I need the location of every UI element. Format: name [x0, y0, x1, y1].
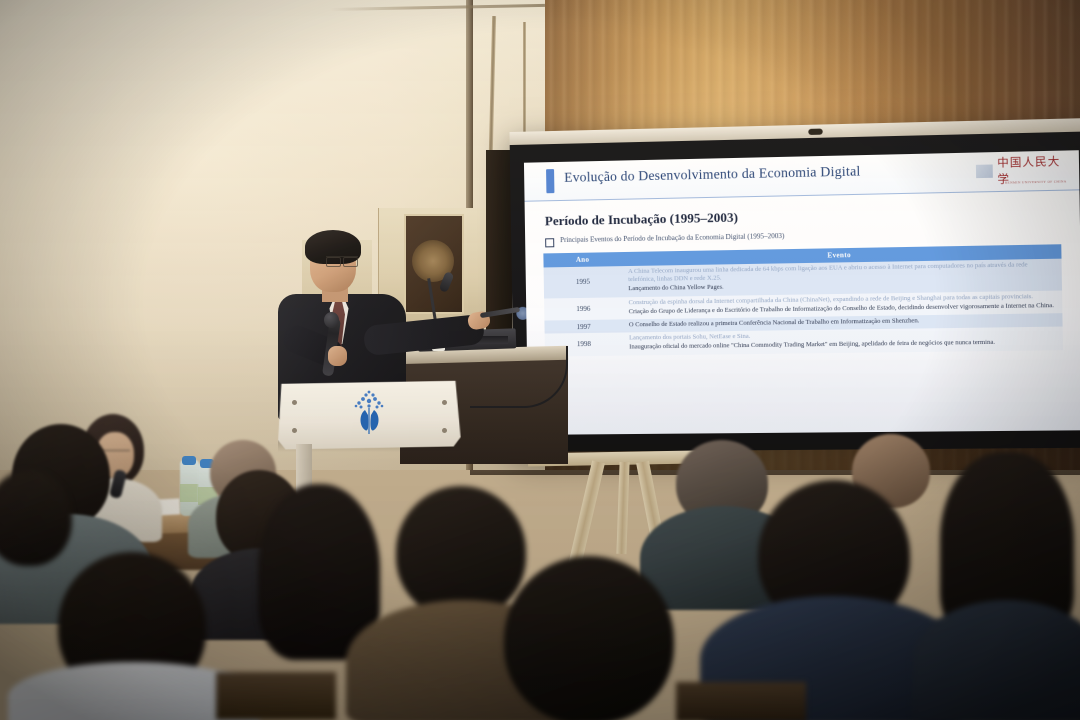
slide-section-title: Período de Incubação (1995–2003): [545, 203, 1061, 229]
cell-year: 1996: [544, 297, 623, 321]
events-table-body: 1995 A China Telecom inaugurou uma linha…: [544, 259, 1063, 356]
cell-year: 1995: [544, 266, 623, 298]
podium-bolt: [292, 428, 297, 433]
microphone-head-icon: [324, 312, 339, 328]
tree-logo-icon: [347, 388, 391, 438]
cell-year: 1997: [544, 319, 623, 333]
presentation-display[interactable]: Evolução do Desenvolvimento da Economia …: [509, 118, 1080, 452]
camera-icon: [809, 129, 824, 135]
chair-back: [676, 682, 806, 720]
display-bezel: Evolução do Desenvolvimento da Economia …: [510, 131, 1080, 427]
podium-bolt: [292, 400, 297, 405]
bottle-label: [180, 484, 199, 502]
presenter-left-hand: [328, 346, 347, 366]
easel-leg-left: [569, 461, 605, 566]
easel-leg-center: [616, 462, 629, 554]
logo-mark-icon: [976, 164, 993, 178]
podium-bolt: [442, 400, 447, 405]
chair-back: [216, 672, 336, 720]
glasses-icon: [326, 256, 358, 265]
audience-head: [396, 486, 526, 618]
slide-bullet-text: Principais Eventos do Período de Incubaç…: [560, 232, 784, 245]
audience-head: [504, 556, 674, 720]
square-bullet-icon: [545, 238, 554, 247]
audience-torso: [912, 600, 1080, 720]
cell-events: Lançamento dos portais Sohu, NetEase e S…: [623, 327, 1063, 355]
header-accent-bar: [546, 169, 554, 193]
podium-bolt: [442, 428, 447, 433]
slide-body: Período de Incubação (1995–2003) Princip…: [525, 190, 1080, 356]
column-header-ano: Ano: [543, 252, 622, 267]
slide-header-title: Evolução do Desenvolvimento da Economia …: [564, 163, 861, 186]
conference-photo: Evolução do Desenvolvimento da Economia …: [0, 0, 1080, 720]
university-logo: 中国人民大学 RENMIN UNIVERSITY OF CHINA: [976, 157, 1067, 184]
slide-content: Evolução do Desenvolvimento da Economia …: [524, 150, 1080, 435]
events-table: Ano Evento 1995 A China Telecom inauguro…: [543, 244, 1063, 356]
bottle-cap: [182, 456, 196, 465]
slide-bullet-line: Principais Eventos do Período de Incubaç…: [545, 227, 1061, 248]
